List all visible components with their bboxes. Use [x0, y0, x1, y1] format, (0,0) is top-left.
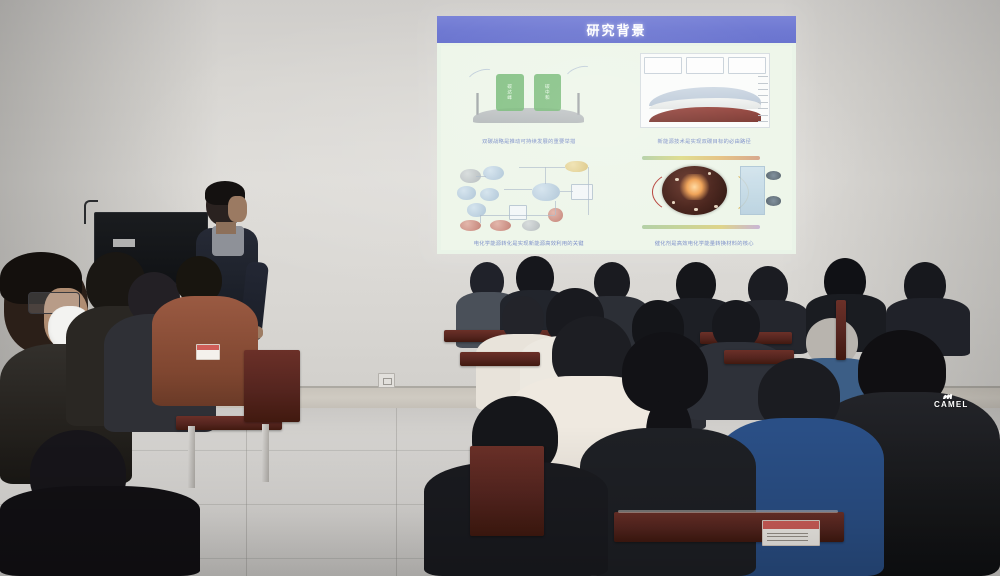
bench-post [836, 300, 846, 360]
camel-brand-text: CAMEL [934, 400, 968, 409]
lecture-hall-scene: 研究背景 碳达峰 碳中和 双碳战略是推动可持续发展的重要举措 [0, 0, 1000, 576]
bench-back-panel [244, 350, 300, 422]
bench-mid-left [460, 352, 540, 366]
audience-area: CAMEL [0, 0, 1000, 576]
bench-leg [188, 426, 195, 488]
bench-sticker-front [762, 520, 820, 546]
bench-leg [262, 424, 269, 482]
bench-aisle-right [470, 446, 544, 536]
bench-sticker [196, 344, 220, 360]
